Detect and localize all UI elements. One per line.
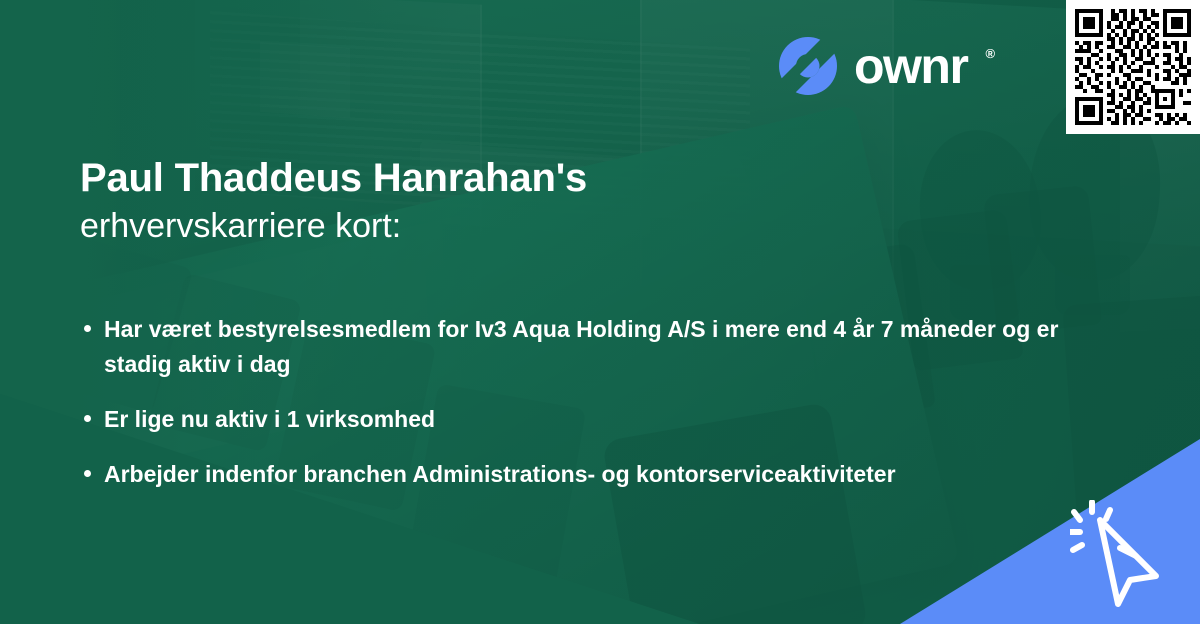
career-summary-card: ownr ® [0,0,1200,624]
list-item: Har været bestyrelsesmedlem for Iv3 Aqua… [80,312,1080,382]
bullet-dot-icon [84,325,91,332]
list-item-text: Er lige nu aktiv i 1 virksomhed [104,406,435,432]
qr-code-icon [1075,9,1191,125]
click-cursor-icon [1070,500,1190,610]
list-item-text: Arbejder indenfor branchen Administratio… [104,461,896,487]
ownr-circle-mark-icon [778,36,838,96]
ownr-logo[interactable]: ownr ® [778,36,995,96]
ownr-wordmark: ownr [854,41,967,91]
registered-trademark-symbol: ® [985,46,995,61]
person-name: Paul Thaddeus Hanrahan's [80,155,587,202]
qr-code[interactable] [1066,0,1200,134]
list-item: Er lige nu aktiv i 1 virksomhed [80,402,1080,437]
career-facts-list: Har været bestyrelsesmedlem for Iv3 Aqua… [80,312,1080,512]
subtitle: erhvervskarriere kort: [80,206,587,247]
list-item-text: Har været bestyrelsesmedlem for Iv3 Aqua… [104,316,1058,377]
list-item: Arbejder indenfor branchen Administratio… [80,457,1080,492]
page-title: Paul Thaddeus Hanrahan's erhvervskarrier… [80,155,587,247]
bullet-dot-icon [84,470,91,477]
bullet-dot-icon [84,415,91,422]
